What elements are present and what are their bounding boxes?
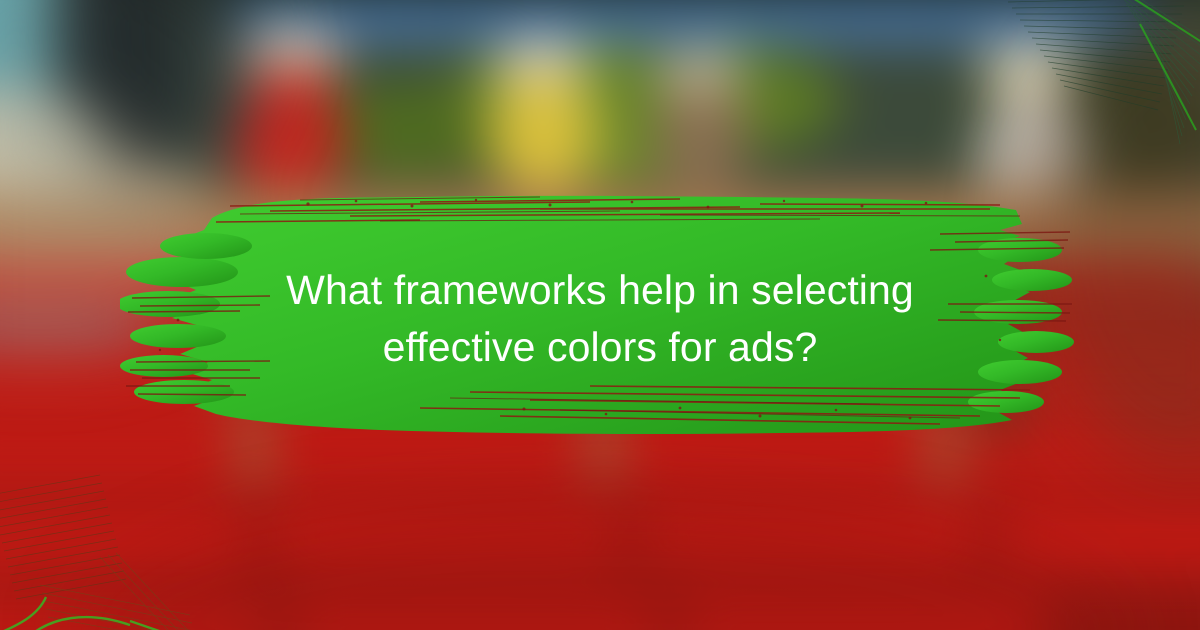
headline-line-1: What frameworks help in selecting: [180, 262, 1020, 319]
card-headline: What frameworks help in selecting effect…: [180, 262, 1020, 375]
headline-line-2: effective colors for ads?: [180, 319, 1020, 376]
question-card: What frameworks help in selecting effect…: [0, 0, 1200, 630]
